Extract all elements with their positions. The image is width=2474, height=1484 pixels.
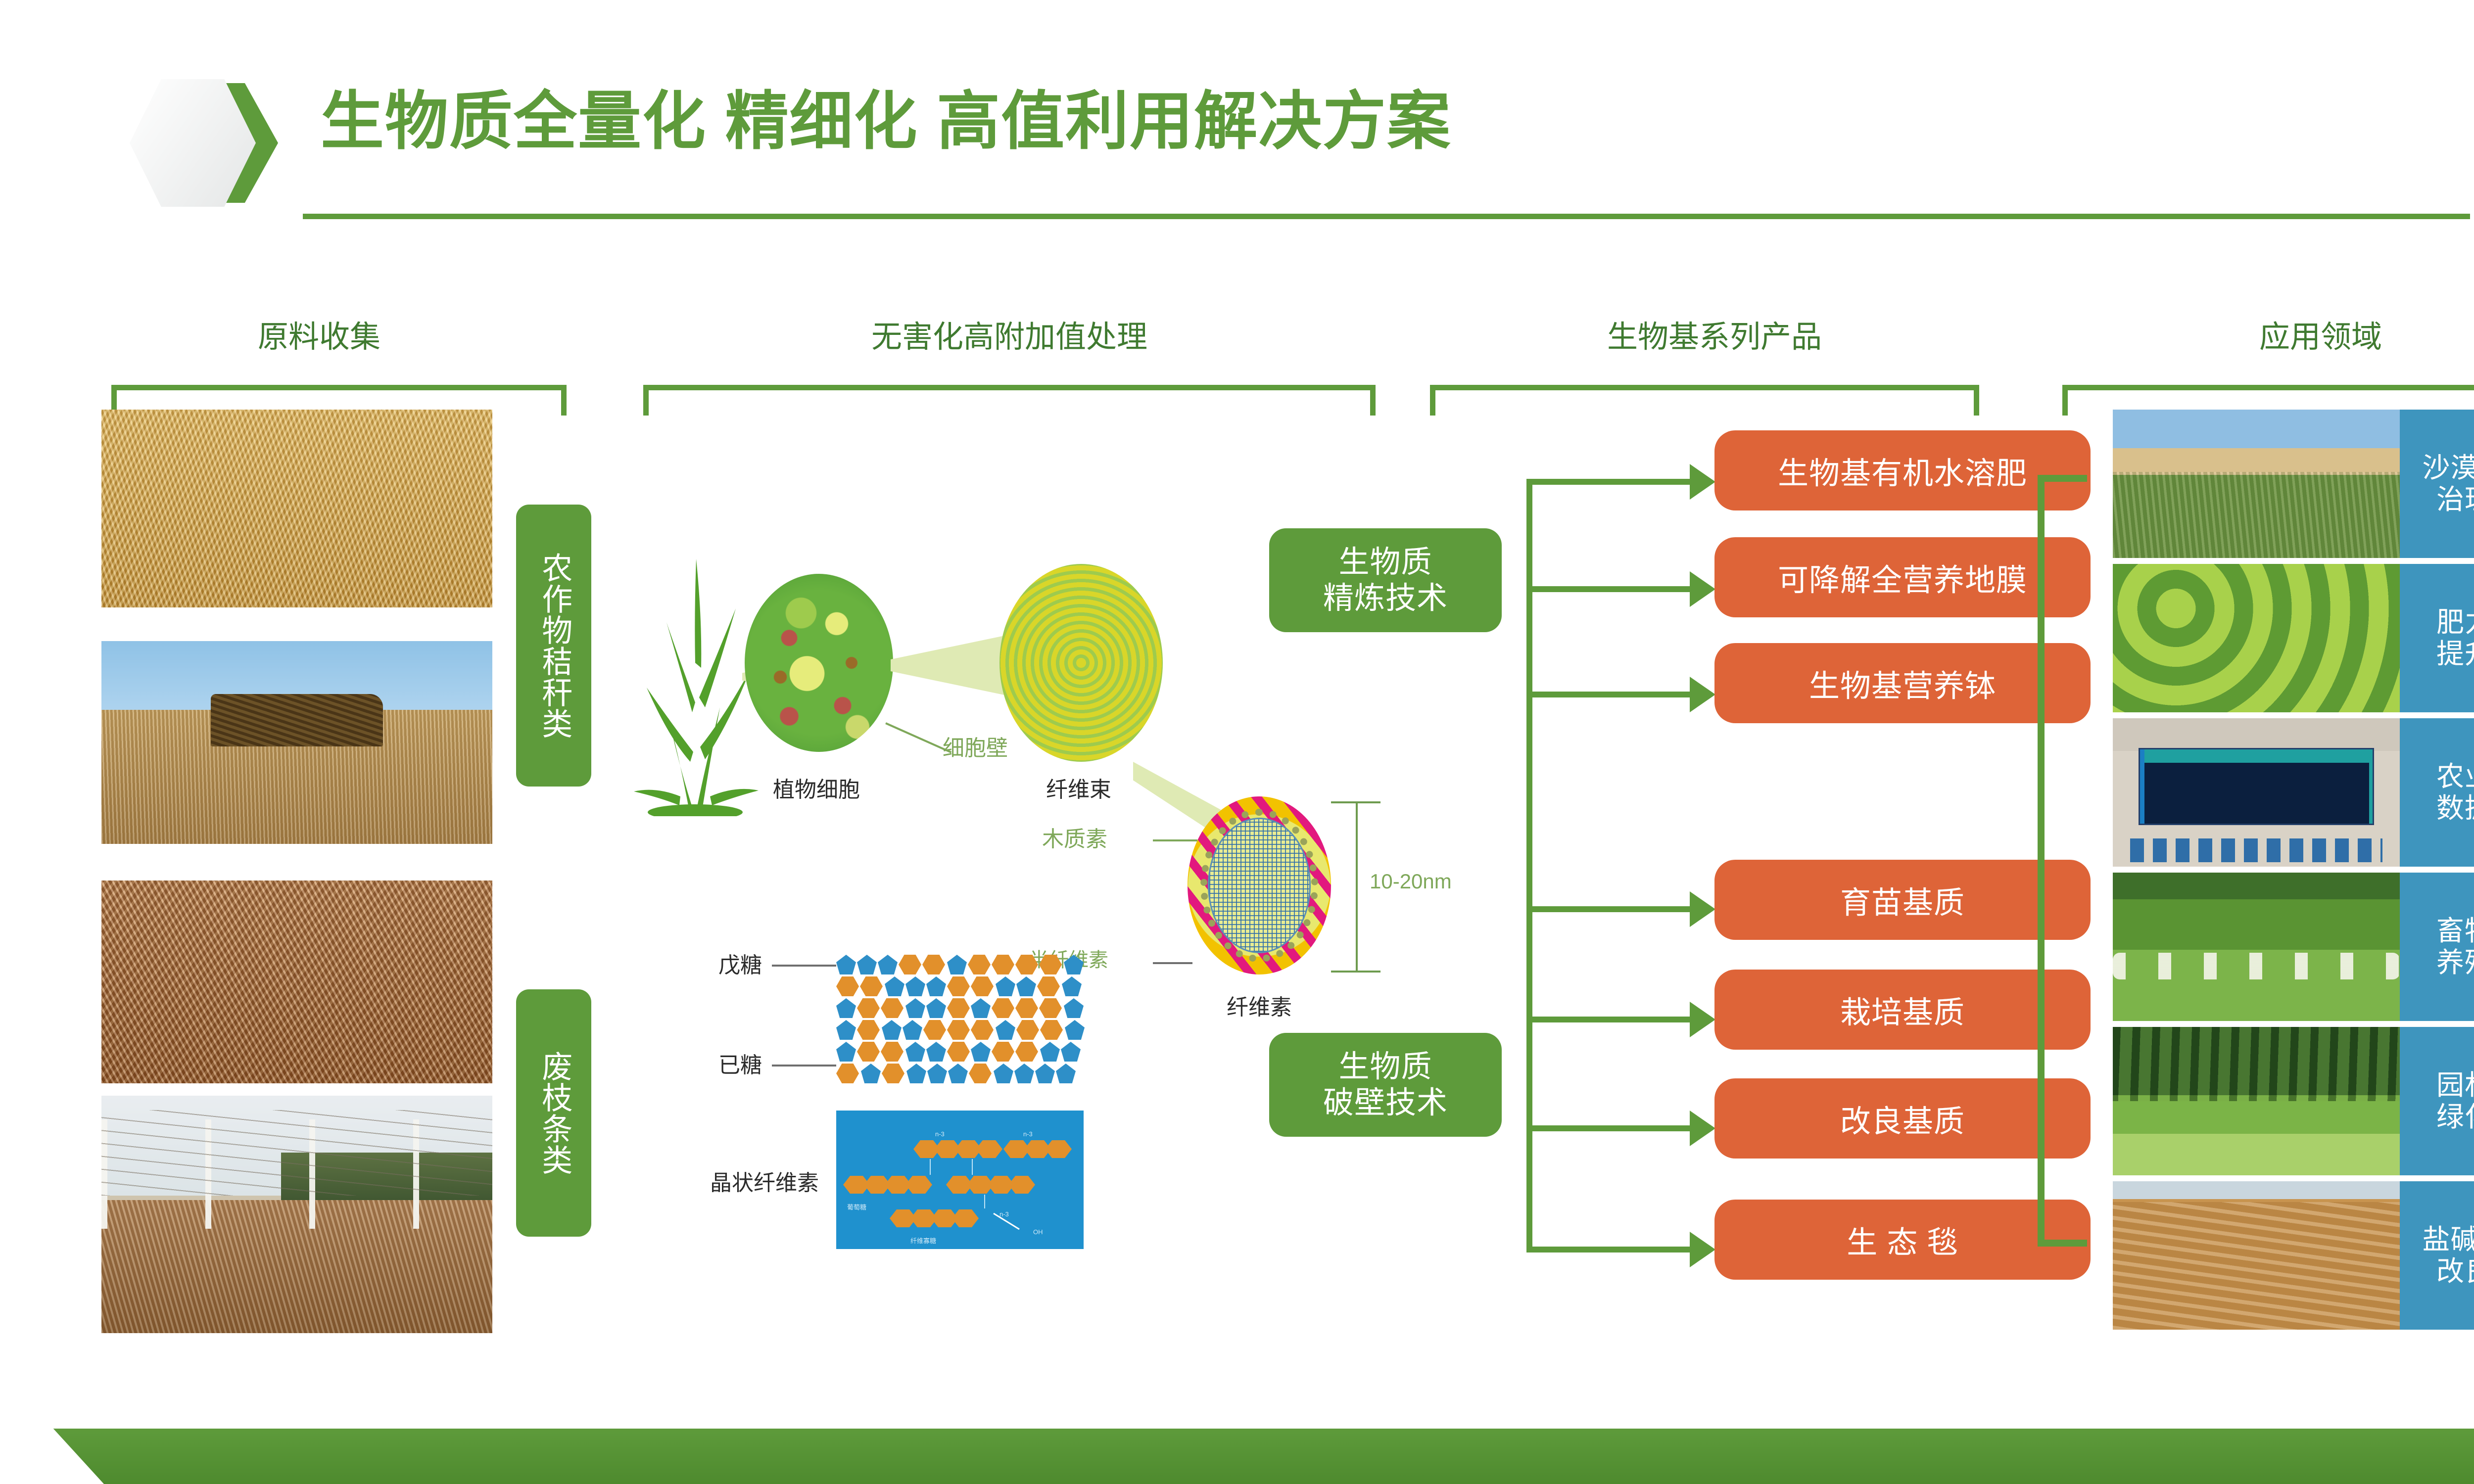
connector-branch-5 [1526,1017,1690,1022]
sugar-chain-illustration [836,955,1113,1088]
photo-sheep-grazing [2113,873,2400,1021]
crystalline-cellulose-illustration: n-3n-3 n-3 纤维寡糖 葡萄糖 OH [836,1111,1084,1249]
label-line-2: 治理 [2436,484,2474,515]
cellulose-fiber-illustration [1188,796,1331,974]
product-label: 可降解全营养地膜 [1778,555,2027,600]
product-pill-ecological-blanket[interactable]: 生 态 毯 [1714,1200,2091,1280]
dimension-cap-top [1331,801,1380,803]
product-label: 栽培基质 [1840,987,1965,1032]
connector-trunk-bottom [1526,906,1532,1252]
plant-cell-illustration [745,574,893,752]
product-label: 改良基质 [1840,1096,1965,1141]
cellwall-leader [885,722,952,753]
connector-branch-4 [1526,906,1690,912]
photo-agriculture-data-center [2113,718,2400,867]
photo-desert-control [2113,410,2400,558]
label-line-1: 园林 [2436,1069,2474,1101]
footer-bar [0,1429,2474,1484]
zoom-beam-bundle [891,636,1004,695]
connector-trunk-top [1526,479,1532,974]
section-header-raw: 原料收集 [258,312,381,356]
photo-orchard-vine-pruning [101,1096,492,1333]
application-label-livestock: 畜牧 养殖 [2400,873,2474,1021]
section-header-process: 无害化高附加值处理 [871,312,1147,356]
label-line-1: 肥力 [2436,606,2474,638]
label-line-2: 绿化 [2436,1101,2474,1133]
product-pill-improvement-substrate[interactable]: 改良基质 [1714,1078,2091,1159]
dimension-line [1356,801,1358,972]
arrow-icon-7 [1690,1232,1715,1267]
arrow-icon-1 [1690,464,1715,500]
label-line-1: 盐碱地 [2423,1224,2474,1255]
application-label-saline: 盐碱地 改良 [2400,1181,2474,1330]
lignin-caption: 木质素 [1042,821,1107,853]
dimension-cap-bottom [1331,971,1380,973]
cellwall-caption: 细胞壁 [943,730,1008,762]
product-label: 生物基营养钵 [1809,661,1996,705]
application-item-livestock[interactable]: 畜牧 养殖 [2113,873,2474,1021]
cellulose-caption: 纤维素 [1227,989,1292,1021]
photo-pruned-branches [101,881,492,1083]
product-pill-seedling-substrate[interactable]: 育苗基质 [1714,860,2091,940]
fiber-bundle-illustration [999,564,1163,762]
raw-category-waste-branch: 废枝条类 [516,989,591,1237]
application-item-desert[interactable]: 沙漠化 治理 [2113,410,2474,558]
tech-pill-refining[interactable]: 生物质 精炼技术 [1269,528,1502,632]
lignin-leader [1153,839,1197,841]
photo-cabbage-field [2113,564,2400,712]
photo-baled-straw-field [101,641,492,844]
connector-branch-7 [1526,1247,1690,1252]
svg-text:纤维寡糖: 纤维寡糖 [910,1237,936,1245]
label-line-2: 数据 [2436,792,2474,824]
label-line-2: 养殖 [2436,947,2474,978]
product-label: 生 态 毯 [1847,1217,1958,1262]
photo-saline-alkali-land [2113,1181,2400,1330]
fiber-bundle-caption: 纤维束 [1046,772,1111,803]
label-line-2: 提升 [2436,638,2474,670]
bracket-products [1430,385,1979,416]
connector-branch-2 [1526,586,1690,592]
tech-line-2: 精炼技术 [1323,580,1448,616]
product-pill-biodegradable-mulch-film[interactable]: 可降解全营养地膜 [1714,537,2091,617]
svg-text:OH: OH [1033,1228,1043,1236]
connector-branch-1 [1526,479,1690,485]
label-line-1: 畜牧 [2436,915,2474,947]
hexose-leader [772,1065,836,1067]
arrow-icon-2 [1690,571,1715,607]
title-divider [303,214,2470,219]
application-item-greening[interactable]: 园林 绿化 [2113,1027,2474,1175]
footer-corner-left [0,1370,104,1484]
application-label-greening: 园林 绿化 [2400,1027,2474,1175]
tech-line-1: 生物质 [1338,1049,1432,1085]
plant-cell-caption: 植物细胞 [773,772,860,803]
bracket-process [643,385,1376,416]
photo-landscape-greening [2113,1027,2400,1175]
application-item-fertility[interactable]: 肥力 提升 [2113,564,2474,712]
product-pill-water-soluble-fertilizer[interactable]: 生物基有机水溶肥 [1714,430,2091,510]
product-pill-cultivation-substrate[interactable]: 栽培基质 [1714,970,2091,1050]
connector-branch-3 [1526,692,1690,697]
section-header-applications: 应用领域 [2259,312,2382,356]
dimension-label: 10-20nm [1370,870,1452,893]
photo-corn-straw-field [101,410,492,607]
application-item-data[interactable]: 农业 数据 [2113,718,2474,867]
raw-category-crop-straw: 农作物秸秆类 [516,505,591,787]
tech-line-2: 破壁技术 [1323,1085,1448,1121]
arrow-icon-5 [1690,1002,1715,1037]
slide-canvas: 生物质全量化 精细化 高值利用解决方案 原料收集 无害化高附加值处理 生物基系列… [0,0,2474,1484]
pentose-caption: 戊糖 [718,947,762,979]
application-label-data: 农业 数据 [2400,718,2474,867]
connector-corner [1526,692,1532,697]
application-bracket-bottom [2038,1240,2087,1247]
application-item-saline[interactable]: 盐碱地 改良 [2113,1181,2474,1330]
svg-text:n-3: n-3 [1023,1130,1033,1138]
crystalline-caption: 晶状纤维素 [710,1165,819,1197]
tech-line-1: 生物质 [1338,544,1432,580]
raw-category-label: 废枝条类 [538,1051,570,1175]
label-line-1: 沙漠化 [2423,452,2474,484]
product-pill-nutrient-pot[interactable]: 生物基营养钵 [1714,643,2091,723]
arrow-icon-6 [1690,1111,1715,1146]
label-line-2: 改良 [2436,1255,2474,1287]
page-title: 生物质全量化 精细化 高值利用解决方案 [321,90,1451,153]
arrow-icon-4 [1690,891,1715,927]
application-label-desert: 沙漠化 治理 [2400,410,2474,558]
svg-text:n-3: n-3 [999,1210,1009,1218]
svg-text:葡萄糖: 葡萄糖 [847,1204,866,1211]
raw-category-label: 农作物秸秆类 [538,552,570,739]
arrow-icon-3 [1690,677,1715,712]
svg-text:n-3: n-3 [935,1130,945,1138]
application-bracket-top [2038,475,2087,482]
tech-pill-wallbreaking[interactable]: 生物质 破壁技术 [1269,1033,1502,1137]
connector-branch-6 [1526,1125,1690,1131]
application-bracket-spine [2038,475,2045,1247]
hexagon-logo [130,79,278,207]
pentose-leader [772,965,836,967]
hemicellulose-leader [1153,962,1192,964]
section-header-products: 生物基系列产品 [1607,312,1822,356]
product-label: 生物基有机水溶肥 [1778,448,2027,493]
product-label: 育苗基质 [1840,878,1965,922]
application-label-fertility: 肥力 提升 [2400,564,2474,712]
hexose-caption: 已糖 [718,1047,762,1079]
label-line-1: 农业 [2436,761,2474,792]
